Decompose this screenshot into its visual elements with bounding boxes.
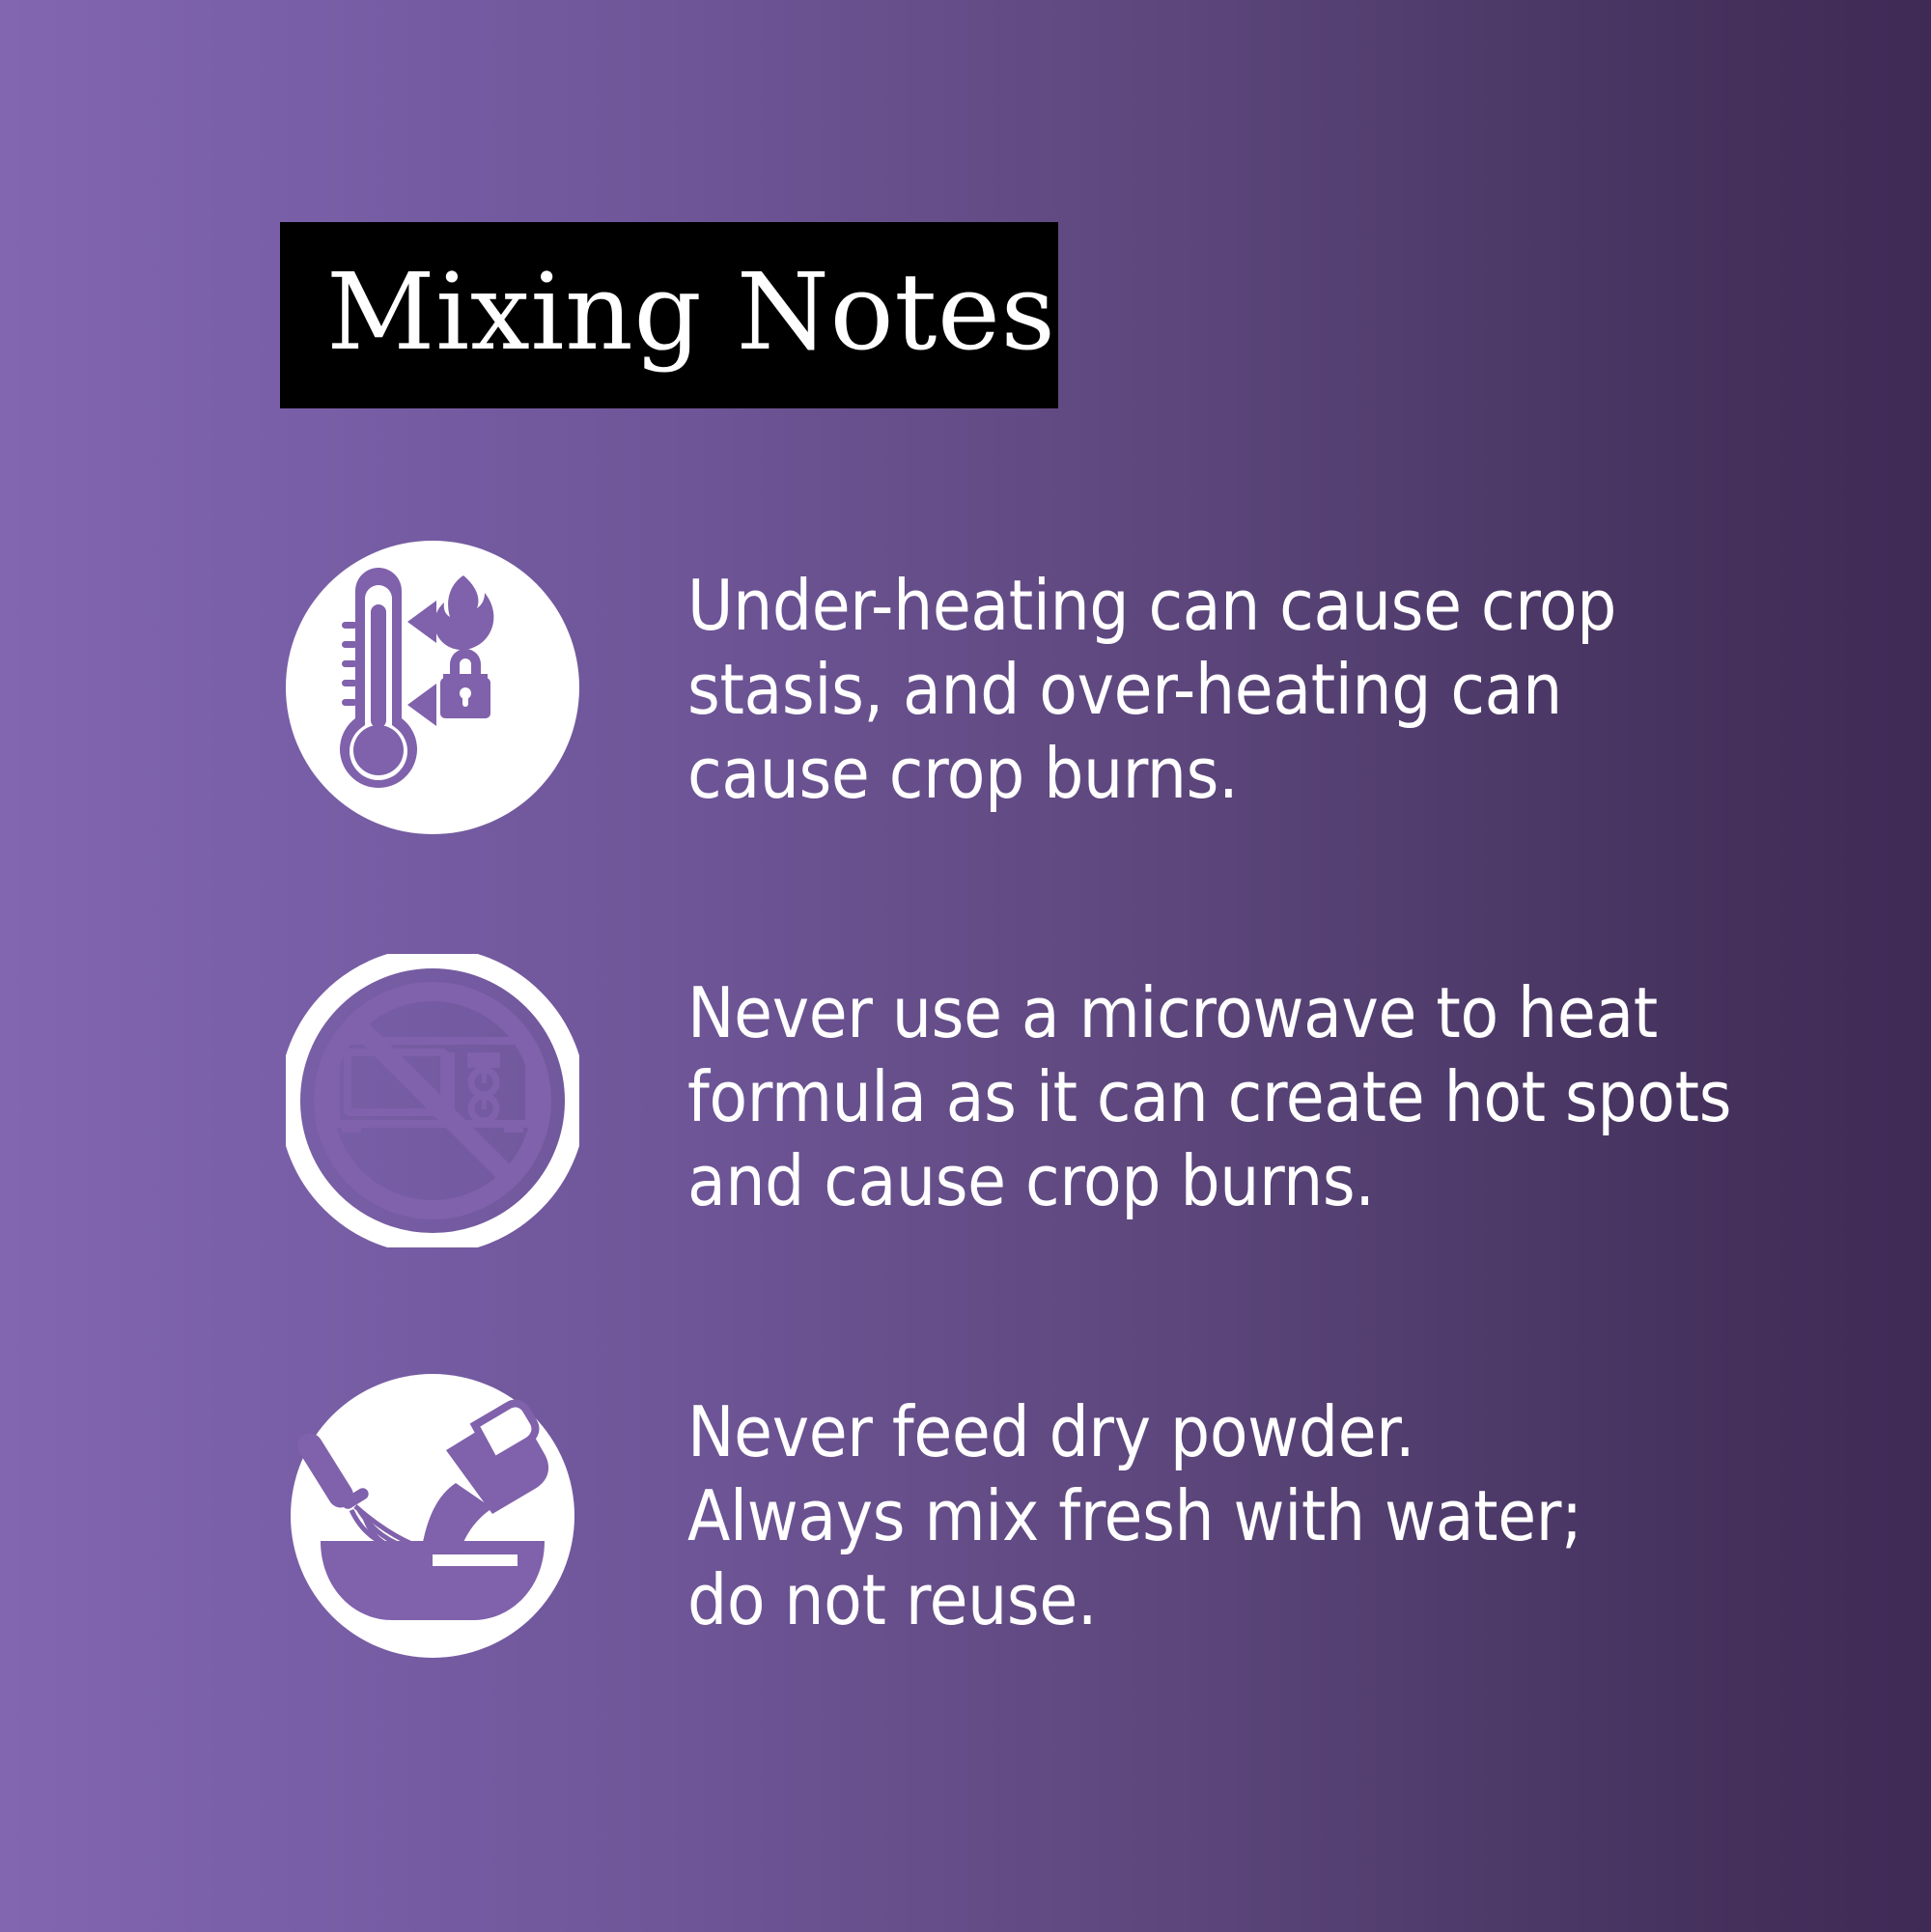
note-text: Under-heating can cause crop stasis, and… (687, 541, 1616, 816)
page-title-box: Mixing Notes (280, 222, 1058, 408)
mixing-notes-poster: Mixing Notes (0, 0, 1931, 1932)
note-text: Never use a microwave to heat formula as… (687, 954, 1731, 1223)
note-row: Never use a microwave to heat formula as… (0, 954, 1931, 1247)
note-row: Under-heating can cause crop stasis, and… (0, 541, 1931, 834)
note-text: Never feed dry powder. Always mix fresh … (687, 1369, 1582, 1642)
whisk-bowl-mixing-icon (286, 1369, 579, 1663)
no-microwave-icon (286, 954, 579, 1247)
thermometer-flame-lock-icon (286, 541, 579, 834)
page-title: Mixing Notes (326, 259, 1055, 365)
note-row: Never feed dry powder. Always mix fresh … (0, 1369, 1931, 1663)
